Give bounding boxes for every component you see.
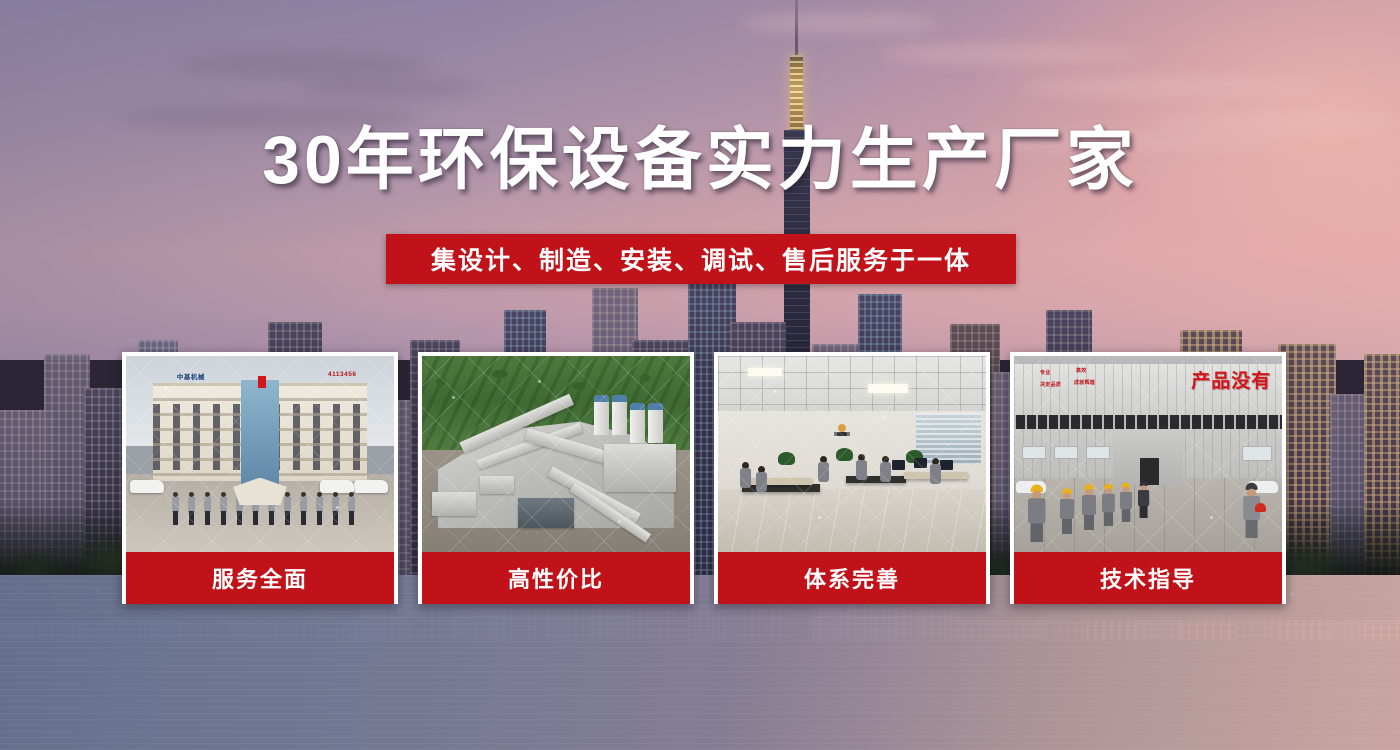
factory-slogan: 决定品质 <box>1040 382 1061 388</box>
feature-card[interactable]: 高性价比 <box>418 352 694 604</box>
wall-logo-icon <box>831 419 853 439</box>
card-photo-office-interior <box>718 356 986 552</box>
card-caption: 服务全面 <box>126 552 394 604</box>
card-photo-industrial-plant <box>422 356 690 552</box>
building-signage-text: 中基机械 <box>177 371 205 381</box>
building-phone-number: 4113456 <box>328 371 356 378</box>
subtitle-text: 集设计、制造、安装、调试、售后服务于一体 <box>431 241 971 277</box>
page-title: 30年环保设备实力生产厂家 <box>0 126 1400 194</box>
factory-sign-text: 产品没有 <box>1191 366 1271 393</box>
card-photo-workers-factory: 产品没有 专业 决定品质 高效 成就辉煌 <box>1014 356 1282 552</box>
feature-card[interactable]: 体系完善 <box>714 352 990 604</box>
card-caption: 体系完善 <box>718 552 986 604</box>
factory-slogan: 成就辉煌 <box>1074 380 1095 386</box>
card-caption: 高性价比 <box>422 552 690 604</box>
feature-card[interactable]: 产品没有 专业 决定品质 高效 成就辉煌 <box>1010 352 1286 604</box>
factory-slogan: 高效 <box>1076 368 1087 374</box>
feature-card[interactable]: 中基机械 4113456 <box>122 352 398 604</box>
subtitle-banner: 集设计、制造、安装、调试、售后服务于一体 <box>386 234 1016 284</box>
card-caption: 技术指导 <box>1014 552 1282 604</box>
card-photo-office-building: 中基机械 4113456 <box>126 356 394 552</box>
promotional-banner: 30年环保设备实力生产厂家 集设计、制造、安装、调试、售后服务于一体 中基机械 … <box>0 0 1400 750</box>
factory-slogan: 专业 <box>1040 370 1051 376</box>
feature-card-row: 中基机械 4113456 <box>122 352 1288 604</box>
